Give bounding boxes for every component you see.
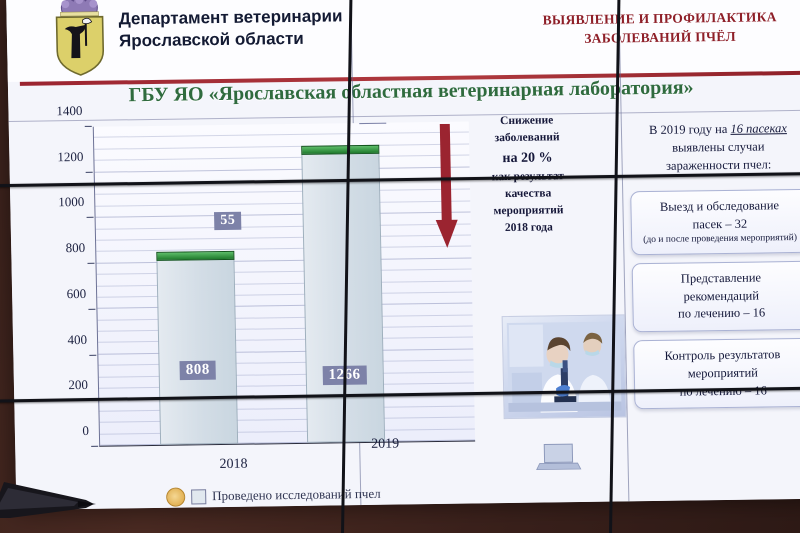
annotation-line7: 2018 года: [467, 219, 591, 238]
y-axis-tick: [88, 309, 95, 310]
y-axis-tick: [85, 126, 92, 127]
photo-figures: [503, 315, 626, 418]
y-axis-tick: [89, 354, 96, 355]
y-axis-tick: [87, 217, 94, 218]
chart-gridline: [98, 348, 473, 354]
chart-gridline: [94, 143, 469, 149]
lab-workers-photo: [502, 314, 627, 419]
chart-gridline: [97, 303, 472, 309]
legend-swatch-studies: [191, 489, 206, 504]
box3-line1: Контроль результатов: [640, 346, 800, 366]
y-axis-tick-label: 600: [66, 286, 86, 302]
info-box-recommendations[interactable]: Представление рекомендаций по лечению – …: [632, 261, 800, 333]
y-axis-tick: [86, 172, 93, 173]
right-heading-pre: В 2019 году на: [649, 122, 731, 137]
info-box-control[interactable]: Контроль результатов мероприятий по лече…: [633, 338, 800, 410]
box3-line2: мероприятий: [641, 364, 800, 384]
annotation-line5: качества: [466, 185, 590, 204]
chart-gridline: [96, 257, 471, 263]
chart-gridline: [100, 428, 475, 434]
slide-header: Департамент ветеринарии Ярославской обла…: [6, 0, 800, 82]
laptop-icon: [535, 442, 582, 473]
y-axis-tick-label: 400: [67, 331, 87, 347]
chart-gridline: [100, 417, 475, 423]
x-axis-label-2018: 2018: [219, 457, 247, 473]
chart-gridline: [97, 280, 472, 286]
y-axis-tick-label: 1400: [56, 103, 82, 119]
bee-research-chart: 0200400600800100012001400 80855126644 20…: [27, 115, 484, 481]
box1-fine: (до и после проведения мероприятий): [638, 233, 800, 247]
laser-pointer: [0, 452, 120, 518]
chart-gridline: [94, 122, 469, 127]
chart-gridline: [99, 371, 474, 377]
chart-gridline: [98, 337, 473, 343]
chart-bar-green-cap: [156, 251, 234, 261]
chart-gridline: [96, 246, 471, 252]
annotation-line2: заболеваний: [465, 129, 589, 148]
chart-bar[interactable]: [157, 259, 239, 445]
legend-label-studies: Проведено исследований пчел: [212, 486, 381, 504]
chart-gridline: [99, 405, 474, 411]
chart-gridline: [97, 291, 472, 297]
y-axis-tick: [91, 446, 98, 447]
x-axis-label-2019: 2019: [371, 437, 399, 453]
annotation-percent: на 20 %: [465, 146, 589, 169]
chart-gridline: [99, 383, 474, 389]
chart-gridline: [95, 189, 470, 195]
chart-gridline: [96, 223, 471, 229]
chart-gridline: [100, 439, 475, 445]
chart-gridline: [97, 269, 472, 275]
y-axis-tick-label: 200: [68, 377, 88, 393]
chart-gridline: [98, 326, 473, 332]
chart-gridline: [95, 200, 470, 206]
chart-gridline: [95, 166, 470, 172]
box1-line2: пасек – 32: [638, 215, 800, 235]
y-axis-tick-label: 1000: [58, 194, 84, 210]
y-axis-tick: [87, 263, 94, 264]
chart-gridline: [96, 234, 471, 240]
department-title: Департамент ветеринарии Ярославской обла…: [118, 5, 369, 53]
chart-value-label-studies: 808: [180, 360, 216, 379]
chart-gridline: [98, 314, 473, 320]
right-column: В 2019 году на 16 пасеках выявлены случа…: [627, 113, 800, 418]
slide-topic: ВЫЯВЛЕНИЕ И ПРОФИЛАКТИКА ЗАБОЛЕВАНИЙ ПЧЁ…: [527, 7, 794, 49]
topic-line1: ВЫЯВЛЕНИЕ И ПРОФИЛАКТИКА: [527, 7, 793, 30]
annotation-line6: мероприятий: [466, 202, 590, 221]
presentation-screen: Департамент ветеринарии Ярославской обла…: [6, 0, 800, 510]
chart-gridline: [99, 360, 474, 366]
chart-gridline: [94, 132, 469, 138]
department-line1: Департамент ветеринарии: [118, 5, 368, 31]
yaroslavl-coat-of-arms-icon: [48, 0, 112, 77]
box2-line3: по лечению – 16: [639, 304, 800, 324]
y-axis-tick-label: 1200: [57, 149, 83, 165]
box2-line2: рекомендаций: [639, 286, 800, 306]
department-line2: Ярославской области: [119, 27, 369, 53]
chart-value-label-diseased: 55: [214, 212, 241, 230]
right-heading-underlined: 16 пасеках: [730, 121, 787, 136]
box2-line1: Представление: [639, 269, 800, 289]
chart-gridline: [96, 212, 471, 218]
chart-gridline: [94, 155, 469, 161]
annotation-line1: Снижение: [465, 112, 589, 131]
box1-line1: Выезд и обследование: [637, 197, 800, 217]
down-arrow-icon: [433, 124, 460, 250]
info-box-visits[interactable]: Выезд и обследование пасек – 32 (до и по…: [630, 189, 800, 255]
slide: Департамент ветеринарии Ярославской обла…: [6, 0, 800, 510]
bee-icon: [166, 487, 185, 506]
right-heading-line2: выявлены случаи: [631, 137, 800, 158]
video-wall-photo: Департамент ветеринарии Ярославской обла…: [0, 0, 800, 533]
topic-line2: ЗАБОЛЕВАНИЙ ПЧЁЛ: [527, 26, 793, 49]
chart-value-label-diseased: 44: [359, 122, 386, 124]
chart-bar-green-cap: [301, 144, 379, 154]
y-axis-tick-label: 800: [66, 240, 86, 256]
y-axis-tick-label: 0: [82, 423, 89, 439]
